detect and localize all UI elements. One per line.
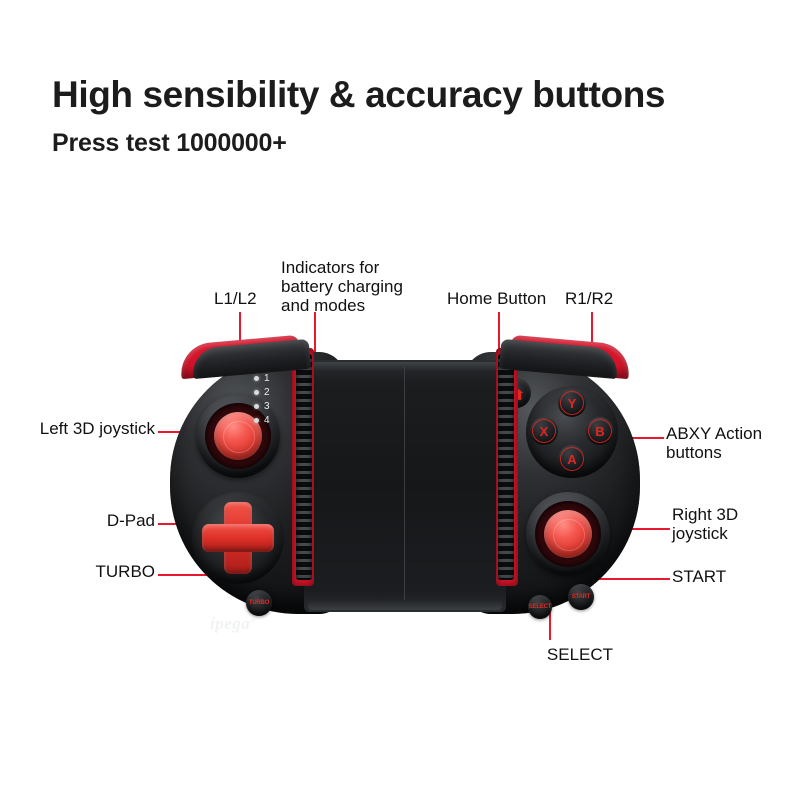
brand-logo: ípega®	[210, 614, 300, 634]
callout-label-abxy: ABXY Action buttons	[666, 424, 762, 462]
battery-mode-indicators: 1 2 3 4	[254, 374, 288, 430]
callout-label-r1r2: R1/R2	[565, 289, 613, 308]
button-a[interactable]: A	[558, 445, 586, 473]
dpad-horizontal-arm[interactable]	[202, 524, 274, 552]
callout-label-turbo: TURBO	[0, 562, 155, 581]
button-y[interactable]: Y	[558, 389, 586, 417]
led-label-1: 1	[264, 374, 270, 384]
turbo-button[interactable]: TURBO	[246, 590, 272, 616]
led-dot-1	[254, 376, 259, 381]
button-x[interactable]: X	[530, 417, 558, 445]
brand-trademark: ®	[250, 616, 256, 624]
phone-holder-bracket	[304, 360, 506, 612]
callout-label-home-button: Home Button	[447, 289, 546, 308]
dpad[interactable]	[192, 492, 284, 584]
led-dot-2	[254, 390, 259, 395]
callout-label-dpad: D-Pad	[0, 511, 155, 530]
led-label-2: 2	[264, 388, 270, 398]
bracket-seam	[404, 366, 405, 606]
extension-teeth-left	[296, 354, 312, 580]
led-label-3: 3	[264, 402, 270, 412]
gamepad-illustration: TURBO ípega® 1 2 3 4	[170, 340, 640, 632]
select-button[interactable]: SELECT	[528, 595, 552, 619]
callout-label-start: START	[672, 567, 726, 586]
right-3d-joystick[interactable]	[526, 492, 610, 576]
start-button[interactable]: START	[568, 584, 594, 610]
led-label-4: 4	[264, 416, 270, 426]
abxy-action-buttons[interactable]: Y X B A	[526, 386, 618, 478]
callout-label-l1l2: L1/L2	[214, 289, 257, 308]
callout-label-indicators: Indicators for battery charging and mode…	[281, 258, 403, 315]
page-title: High sensibility & accuracy buttons	[52, 74, 665, 116]
led-dot-3	[254, 404, 259, 409]
button-b[interactable]: B	[586, 417, 614, 445]
callout-label-left-joystick: Left 3D joystick	[0, 419, 155, 438]
callout-label-right-joystick: Right 3D joystick	[672, 505, 738, 543]
page-subtitle: Press test 1000000+	[52, 129, 287, 158]
infographic-canvas: High sensibility & accuracy buttons Pres…	[0, 0, 800, 800]
right-joystick-cap[interactable]	[544, 510, 592, 558]
led-dot-4	[254, 418, 259, 423]
bracket-bottom-lip	[308, 600, 502, 610]
callout-label-select: SELECT	[500, 645, 660, 664]
brand-name: ípega	[210, 614, 250, 633]
extension-teeth-right	[498, 354, 514, 580]
bracket-top-lip	[308, 362, 502, 371]
